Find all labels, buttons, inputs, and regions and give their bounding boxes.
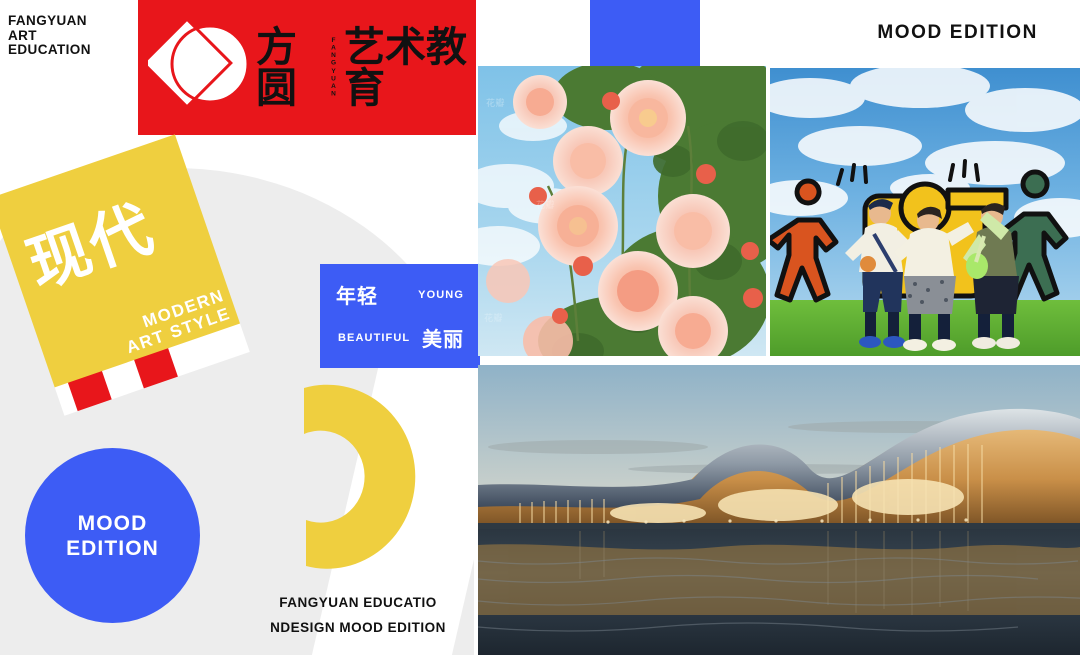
keyword-beautiful-cn: 美丽 bbox=[422, 323, 464, 352]
logo-pinyin: FANG YUAN bbox=[329, 37, 337, 98]
yellow-arc-shape bbox=[288, 378, 458, 578]
caption-line-1: FANGYUAN EDUCATIO bbox=[250, 590, 466, 615]
logo-chinese-lockup: 方圆 FANG YUAN 艺术教育 bbox=[256, 27, 476, 109]
logo-banner: 方圆 FANG YUAN 艺术教育 bbox=[138, 0, 476, 135]
architecture-photo-image bbox=[478, 365, 1080, 655]
brand-line-3: EDUCATION bbox=[8, 43, 128, 58]
logo-cn-tagline: 艺术教育 bbox=[344, 27, 476, 109]
caption-line-2: NDESIGN MOOD EDITION bbox=[250, 615, 466, 640]
dancers-photo bbox=[770, 68, 1080, 356]
dancers-photo-image bbox=[770, 68, 1080, 356]
keyword-box: 年轻 YOUNG BEAUTIFUL 美丽 bbox=[320, 264, 480, 368]
keyword-young-cn: 年轻 bbox=[336, 280, 378, 309]
roses-photo-image: 花瓣 花瓣 花瓣 bbox=[478, 66, 766, 356]
moodboard-canvas: FANGYUAN ART EDUCATION 方圆 FANG YUAN 艺术教育… bbox=[0, 0, 1080, 655]
mood-edition-circle-badge: MOOD EDITION bbox=[25, 448, 200, 623]
brand-line-1: FANGYUAN bbox=[8, 14, 128, 29]
page-title: MOOD EDITION bbox=[877, 22, 1038, 44]
circle-badge-line-2: EDITION bbox=[66, 536, 159, 561]
logo-pinyin-top: FANG bbox=[329, 37, 337, 67]
logo-cn-name: 方圆 bbox=[256, 27, 322, 109]
architecture-photo bbox=[478, 365, 1080, 655]
keyword-beautiful-en: BEAUTIFUL bbox=[338, 332, 410, 344]
logo-pinyin-bottom: YUAN bbox=[329, 68, 337, 98]
keyword-young-en: YOUNG bbox=[418, 289, 464, 301]
circle-badge-line-1: MOOD bbox=[78, 511, 148, 536]
keyword-row-beautiful: BEAUTIFUL 美丽 bbox=[336, 323, 464, 352]
header-blue-block bbox=[590, 0, 700, 68]
roses-photo: 花瓣 花瓣 花瓣 bbox=[478, 66, 766, 356]
yellow-arc-icon bbox=[288, 378, 458, 578]
diamond-circle-logo-icon bbox=[148, 20, 253, 110]
footer-caption: FANGYUAN EDUCATIO NDESIGN MOOD EDITION bbox=[250, 590, 466, 640]
card-chinese-label: 现代 bbox=[20, 197, 161, 297]
brand-line-2: ART bbox=[8, 29, 128, 44]
brand-wordmark: FANGYUAN ART EDUCATION bbox=[8, 14, 128, 58]
keyword-row-young: 年轻 YOUNG bbox=[336, 280, 464, 309]
